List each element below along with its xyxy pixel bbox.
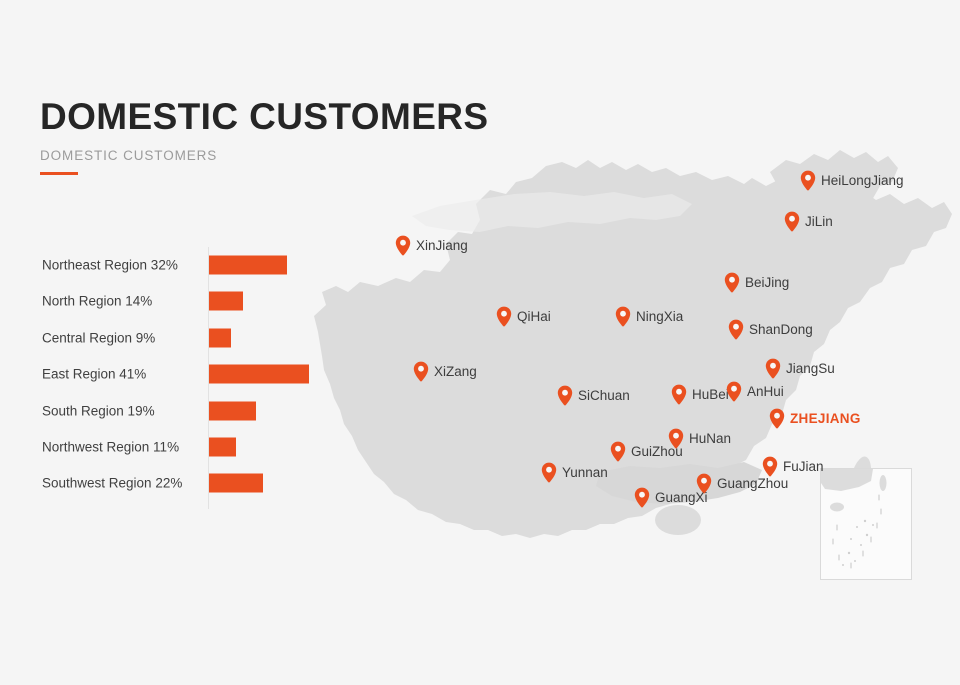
map-marker-label: HuBei [692, 388, 729, 402]
location-pin-icon [413, 361, 429, 382]
map-marker-guangxi[interactable]: GuangXi [634, 487, 708, 508]
bar-row-label: Southwest Region 22% [42, 476, 202, 491]
south-china-sea-inset [820, 468, 912, 580]
map-marker-yunnan[interactable]: Yunnan [541, 462, 608, 483]
location-pin-icon [496, 306, 512, 327]
map-marker-label: HuNan [689, 432, 731, 446]
map-marker-sichuan[interactable]: SiChuan [557, 385, 630, 406]
bar-row: East Region 41% [42, 356, 332, 392]
location-pin-icon [610, 441, 626, 462]
bar-row-label: Central Region 9% [42, 330, 202, 345]
bar-row: Southwest Region 22% [42, 465, 332, 501]
bar-row-label: North Region 14% [42, 294, 202, 309]
bar-row: Northeast Region 32% [42, 247, 332, 283]
map-marker-shandong[interactable]: ShanDong [728, 319, 813, 340]
location-pin-icon [765, 358, 781, 379]
page-subtitle: DOMESTIC CUSTOMERS [40, 148, 489, 163]
map-marker-xinjiang[interactable]: XinJiang [395, 235, 468, 256]
map-marker-guizhou[interactable]: GuiZhou [610, 441, 683, 462]
map-marker-label: JiangSu [786, 362, 835, 376]
bar-row: Northwest Region 11% [42, 429, 332, 465]
inset-taiwan [880, 475, 887, 491]
inset-islets [842, 520, 874, 566]
location-pin-icon [615, 306, 631, 327]
bar-row: North Region 14% [42, 283, 332, 319]
map-marker-label: QiHai [517, 310, 551, 324]
map-marker-qihai[interactable]: QiHai [496, 306, 551, 327]
map-marker-anhui[interactable]: AnHui [726, 381, 784, 402]
map-marker-xizang[interactable]: XiZang [413, 361, 477, 382]
bar-row-value [209, 401, 256, 420]
bar-row-value [209, 438, 236, 457]
map-marker-ningxia[interactable]: NingXia [615, 306, 683, 327]
bar-row-value [209, 365, 309, 384]
bar-row: Central Region 9% [42, 320, 332, 356]
map-marker-label: NingXia [636, 310, 683, 324]
location-pin-icon [784, 211, 800, 232]
map-marker-label: Yunnan [562, 466, 608, 480]
location-pin-icon [634, 487, 650, 508]
location-pin-icon [557, 385, 573, 406]
map-marker-label: HeiLongJiang [821, 174, 904, 188]
map-marker-label: JiLin [805, 215, 833, 229]
bar-row-value [209, 474, 263, 493]
map-marker-label: ShanDong [749, 323, 813, 337]
bar-row-label: Northeast Region 32% [42, 258, 202, 273]
map-marker-label: XiZang [434, 365, 477, 379]
map-marker-label: GuiZhou [631, 445, 683, 459]
inset-map-shape [821, 469, 911, 579]
map-marker-label: SiChuan [578, 389, 630, 403]
map-marker-guangzhou[interactable]: GuangZhou [696, 473, 788, 494]
map-marker-hubei[interactable]: HuBei [671, 384, 729, 405]
map-marker-label: BeiJing [745, 276, 789, 290]
bar-row: South Region 19% [42, 393, 332, 429]
bar-row-label: East Region 41% [42, 367, 202, 382]
location-pin-icon [541, 462, 557, 483]
map-marker-label: ZHEJIANG [790, 412, 861, 426]
location-pin-icon [800, 170, 816, 191]
location-pin-icon [769, 408, 785, 429]
title-accent-rule [40, 172, 78, 175]
location-pin-icon [395, 235, 411, 256]
hainan-island [655, 505, 701, 535]
map-marker-jiangsu[interactable]: JiangSu [765, 358, 835, 379]
page-header: DOMESTIC CUSTOMERS DOMESTIC CUSTOMERS [40, 98, 489, 175]
inset-hainan [830, 503, 844, 512]
bar-row-label: Northwest Region 11% [42, 440, 202, 455]
map-marker-label: GuangXi [655, 491, 708, 505]
location-pin-icon [671, 384, 687, 405]
bar-row-label: South Region 19% [42, 403, 202, 418]
map-marker-zhejiang[interactable]: ZHEJIANG [769, 408, 861, 429]
region-bar-chart: Northeast Region 32%North Region 14%Cent… [42, 247, 332, 509]
map-marker-heilongjiang[interactable]: HeiLongJiang [800, 170, 904, 191]
page-title: DOMESTIC CUSTOMERS [40, 98, 489, 137]
bar-row-value [209, 256, 287, 275]
map-marker-jilin[interactable]: JiLin [784, 211, 833, 232]
map-marker-label: FuJian [783, 460, 824, 474]
poster-canvas: DOMESTIC CUSTOMERS DOMESTIC CUSTOMERS No… [0, 0, 960, 685]
location-pin-icon [728, 319, 744, 340]
map-marker-label: GuangZhou [717, 477, 788, 491]
inset-mainland [821, 469, 873, 491]
location-pin-icon [726, 381, 742, 402]
map-marker-label: AnHui [747, 385, 784, 399]
bar-row-value [209, 292, 243, 311]
map-marker-label: XinJiang [416, 239, 468, 253]
bar-row-value [209, 328, 231, 347]
map-marker-beijing[interactable]: BeiJing [724, 272, 789, 293]
location-pin-icon [724, 272, 740, 293]
